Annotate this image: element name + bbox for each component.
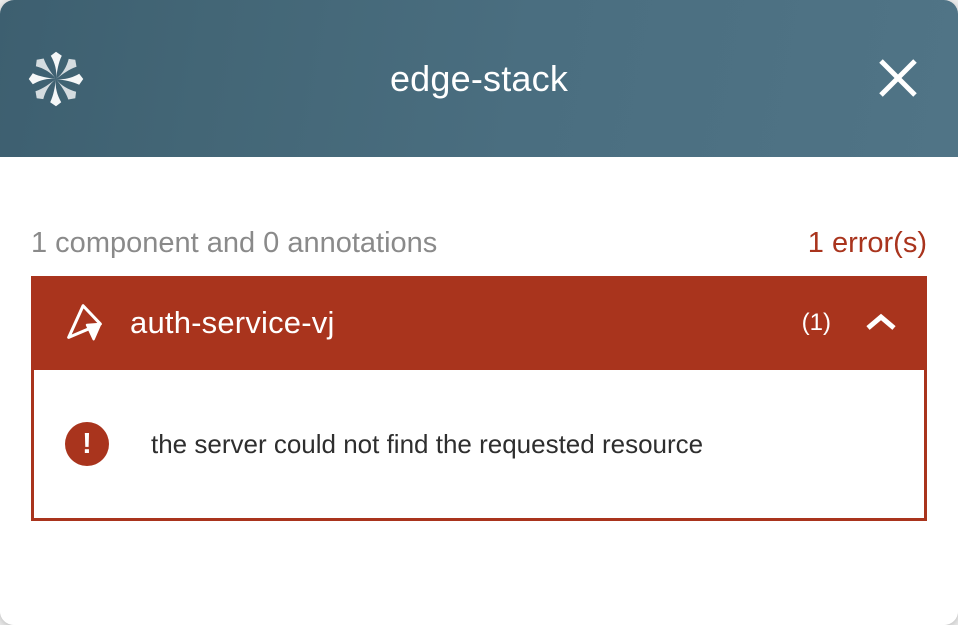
edge-stack-pinwheel-logo-icon: [27, 50, 85, 108]
error-list-item: ! the server could not find the requeste…: [65, 422, 703, 466]
component-summary-text: 1 component and 0 annotations: [31, 227, 437, 260]
error-count-label: 1 error(s): [808, 227, 927, 260]
exclamation-glyph: !: [82, 430, 92, 459]
summary-row: 1 component and 0 annotations 1 error(s): [31, 157, 927, 276]
component-name: auth-service-vj: [130, 305, 802, 341]
dialog-body: 1 component and 0 annotations 1 error(s)…: [0, 157, 958, 625]
error-exclamation-icon: !: [65, 422, 109, 466]
error-message-text: the server could not find the requested …: [151, 429, 703, 460]
dialog-title: edge-stack: [0, 58, 958, 100]
component-card-header[interactable]: auth-service-vj (1): [31, 276, 927, 370]
component-card-body: ! the server could not find the requeste…: [34, 370, 924, 518]
component-error-badge: (1): [802, 309, 831, 337]
dialog-titlebar: edge-stack: [0, 0, 958, 157]
ambassador-delta-icon: [62, 300, 108, 346]
close-icon[interactable]: [870, 50, 926, 106]
component-card: auth-service-vj (1) ! the server could n…: [31, 276, 927, 521]
edge-stack-dialog: edge-stack 1 component and 0 annotations…: [0, 0, 958, 625]
chevron-up-icon[interactable]: [861, 303, 901, 343]
